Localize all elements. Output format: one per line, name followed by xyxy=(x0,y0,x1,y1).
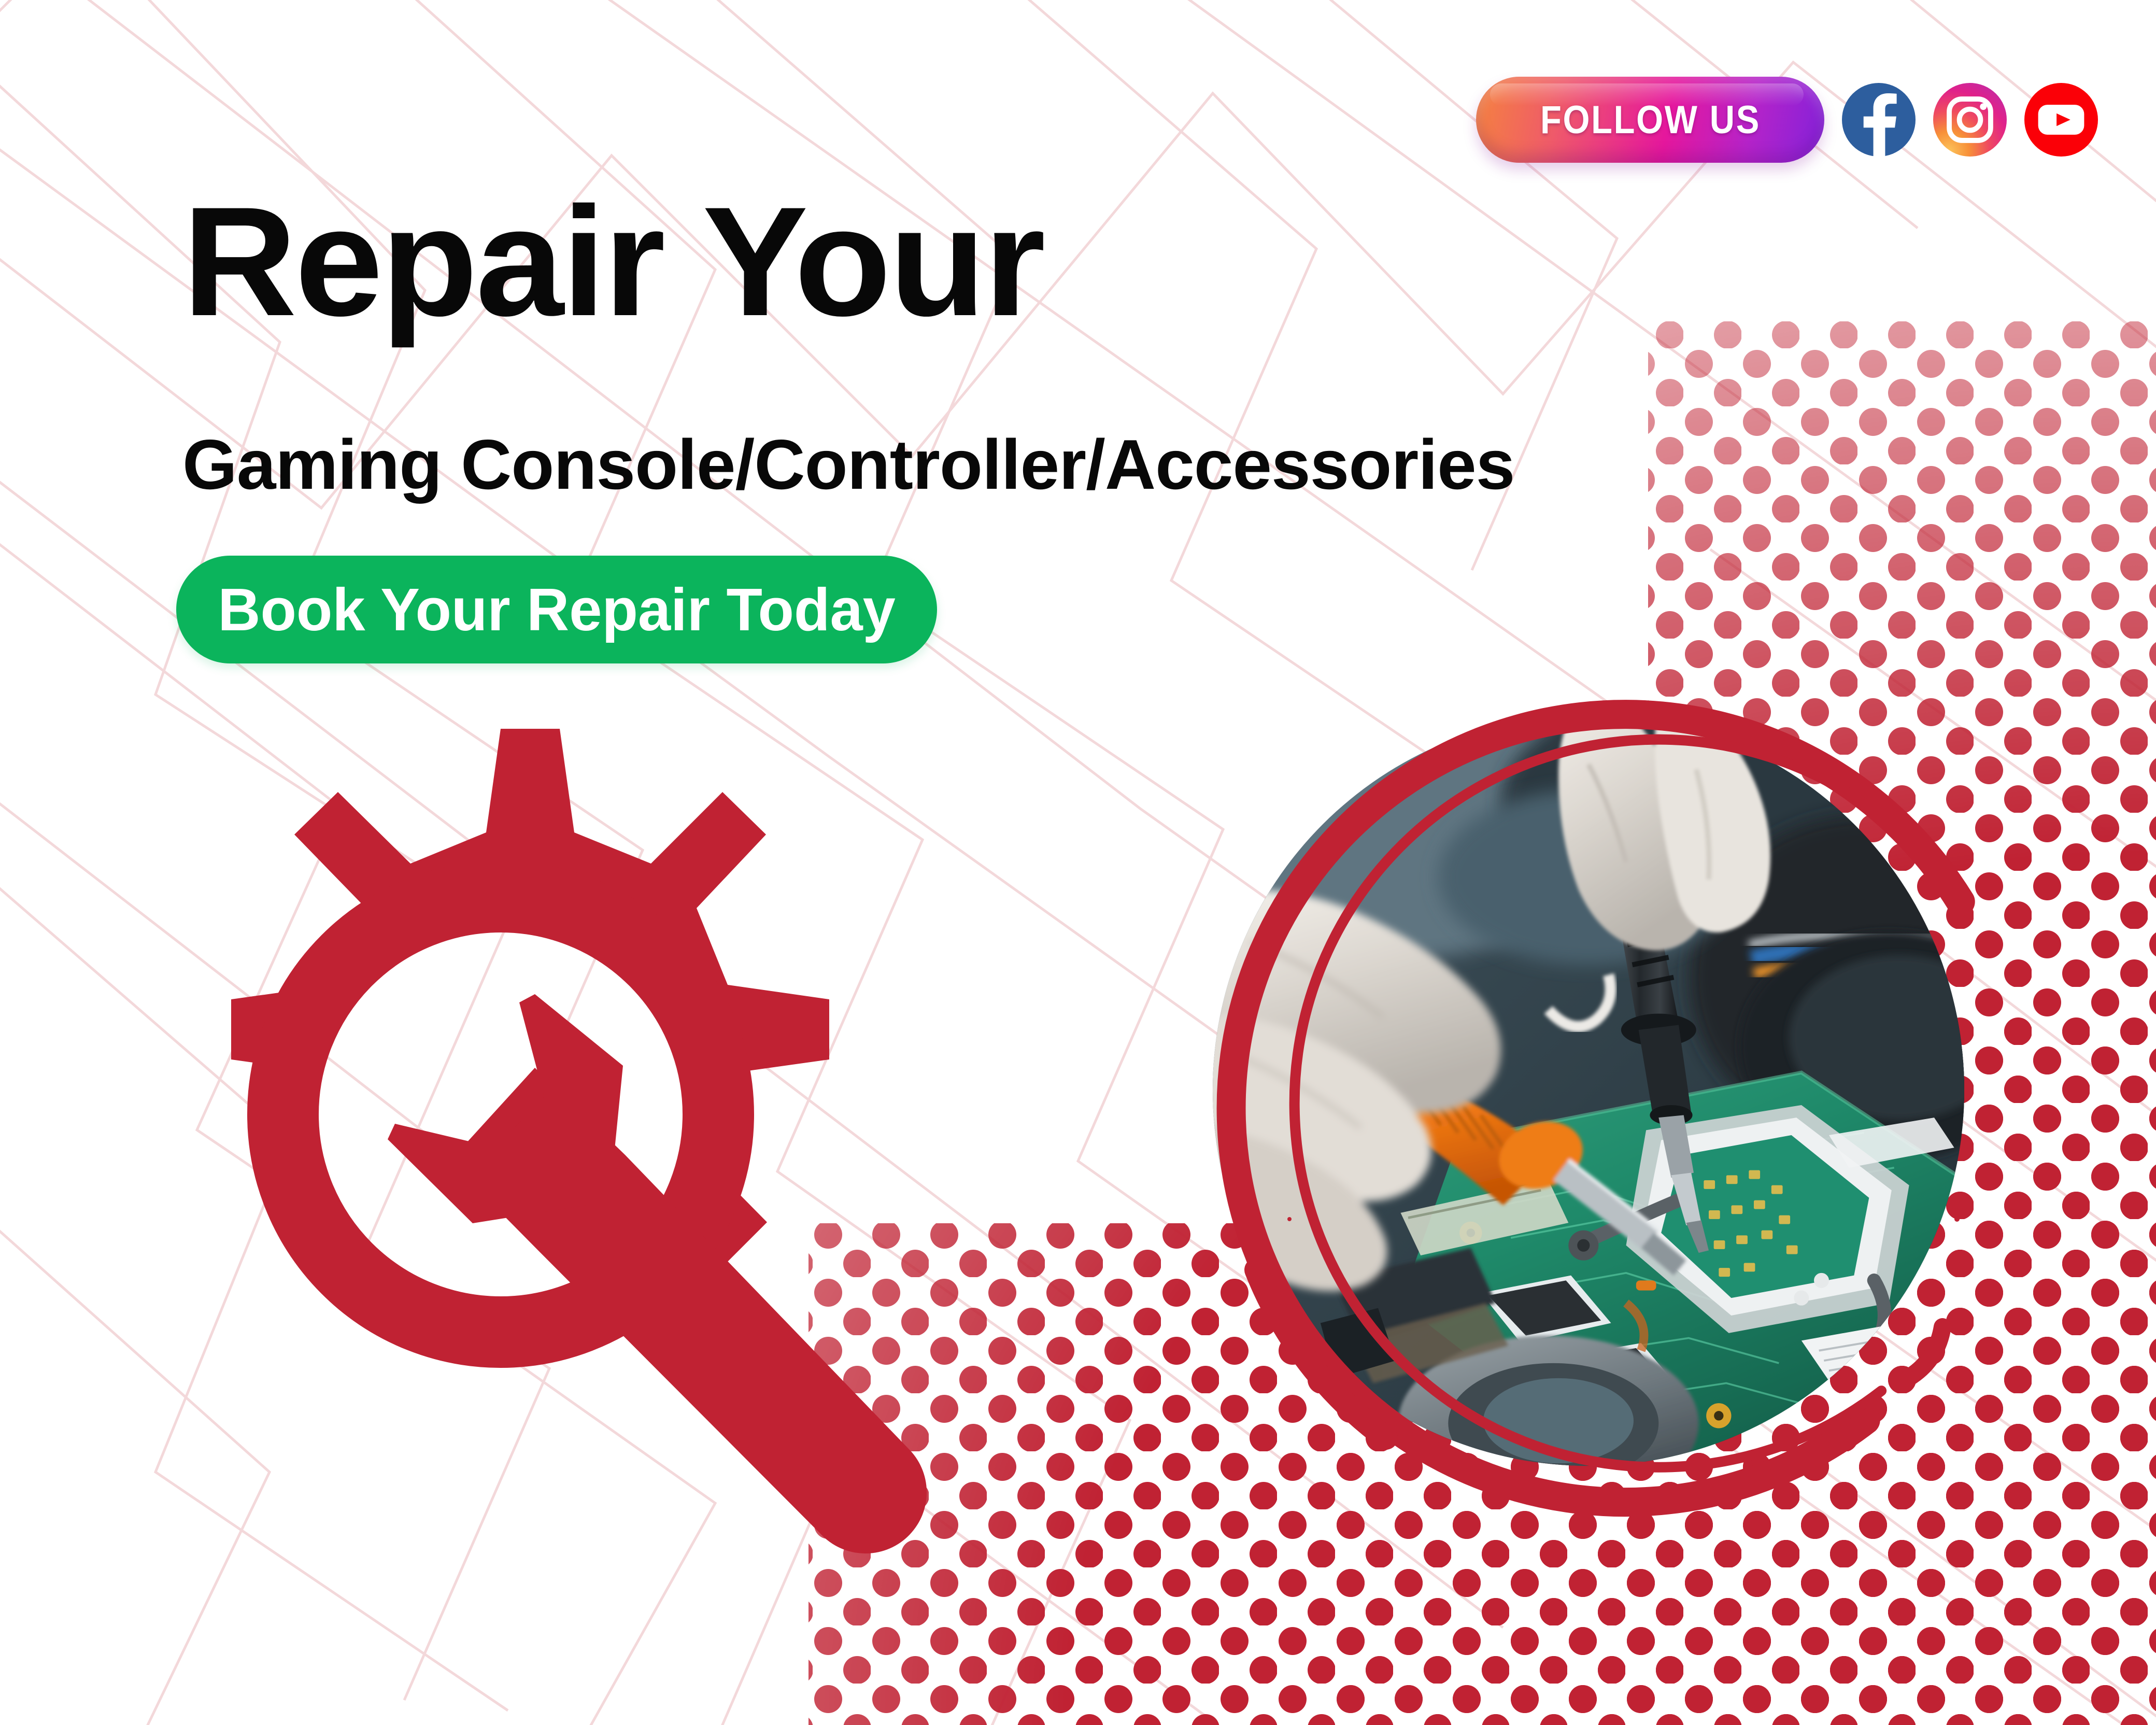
follow-us-label: FOLLOW US xyxy=(1540,97,1761,143)
page-title: Repair Your xyxy=(182,193,1043,330)
book-repair-label: Book Your Repair Today xyxy=(218,575,896,644)
instagram-icon[interactable] xyxy=(1933,83,2007,157)
follow-us-button[interactable]: FOLLOW US xyxy=(1476,77,1824,163)
youtube-icon[interactable] xyxy=(2024,83,2098,157)
page-subtitle: Gaming Console/Controller/Accessories xyxy=(182,429,1514,500)
promo-banner: FOLLOW US Repair Your Gaming Console/Con… xyxy=(0,0,2156,1725)
social-follow-bar: FOLLOW US xyxy=(1476,77,2098,163)
facebook-icon[interactable] xyxy=(1842,83,1916,157)
gear-wrench-logo xyxy=(102,705,983,1602)
book-repair-button[interactable]: Book Your Repair Today xyxy=(176,556,937,663)
technician-photo xyxy=(1213,714,1964,1466)
repair-photo-block xyxy=(1134,639,2062,1566)
